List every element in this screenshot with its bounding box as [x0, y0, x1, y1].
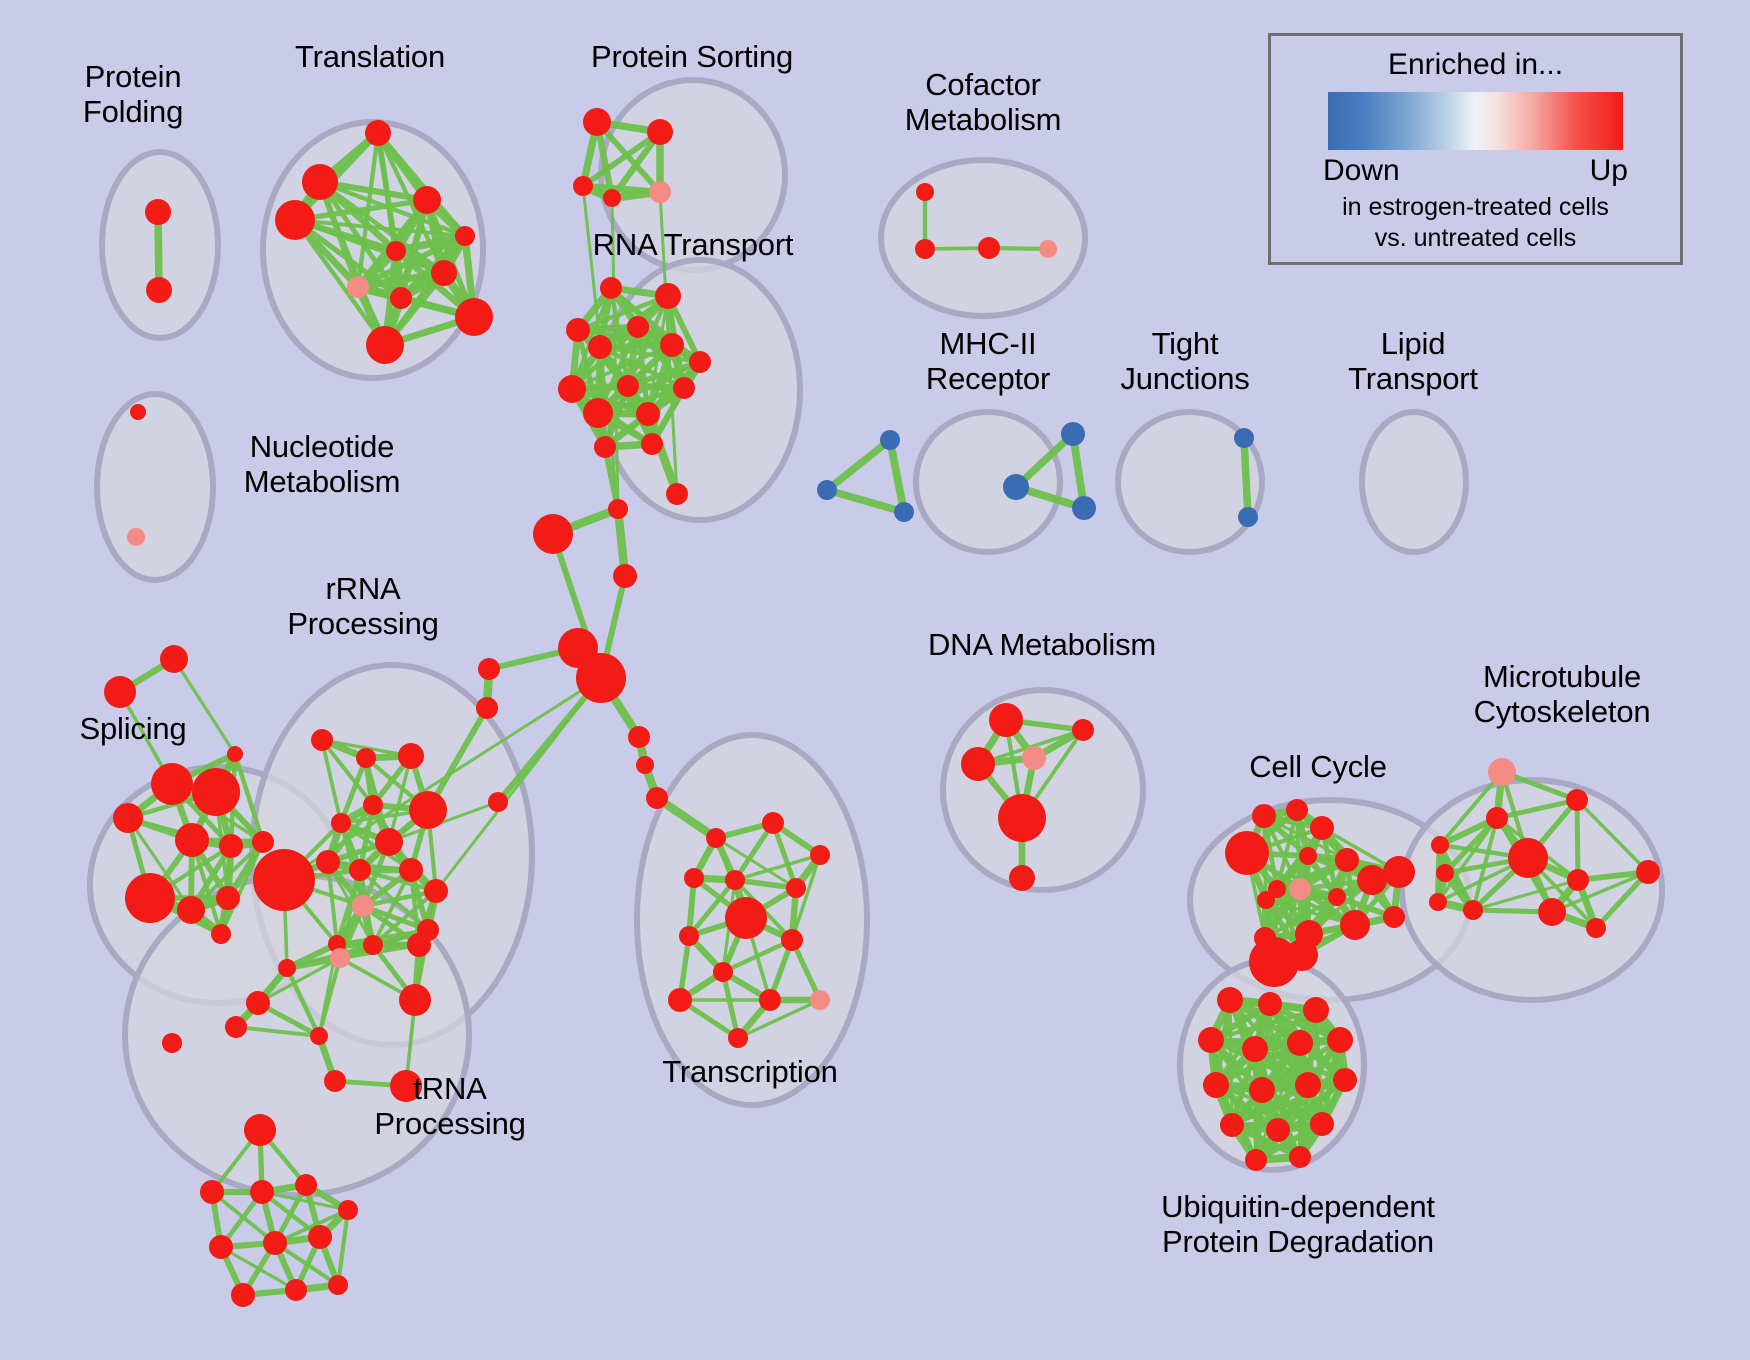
network-node[interactable]: [478, 658, 500, 680]
legend-subtitle-line-1: in estrogen-treated cells: [1271, 192, 1680, 223]
network-node[interactable]: [689, 351, 711, 373]
network-node[interactable]: [130, 404, 146, 420]
cluster-label-ubiquitin-protein-degradation: Ubiquitin-dependent Protein Degradation: [1161, 1190, 1435, 1259]
network-node[interactable]: [1245, 1149, 1267, 1171]
network-node[interactable]: [1310, 1112, 1334, 1136]
network-node[interactable]: [627, 316, 649, 338]
cluster-label-microtubule-cytoskeleton: Microtubule Cytoskeleton: [1474, 660, 1651, 729]
network-node[interactable]: [250, 1180, 274, 1204]
network-node[interactable]: [209, 1235, 233, 1259]
network-node[interactable]: [1203, 1072, 1229, 1098]
network-node[interactable]: [375, 828, 403, 856]
network-node[interactable]: [603, 189, 621, 207]
network-node[interactable]: [1258, 992, 1282, 1016]
legend-endpoints: Down Up: [1323, 154, 1628, 192]
network-node[interactable]: [647, 119, 673, 145]
network-node[interactable]: [127, 528, 145, 546]
network-node[interactable]: [363, 935, 383, 955]
network-node[interactable]: [398, 743, 424, 769]
network-node[interactable]: [810, 990, 830, 1010]
network-node[interactable]: [252, 831, 274, 853]
cluster-label-rrna-processing: rRNA Processing: [287, 572, 438, 641]
cluster-label-splicing: Splicing: [80, 712, 187, 747]
network-node[interactable]: [216, 886, 240, 910]
network-edge: [827, 440, 890, 490]
network-node[interactable]: [880, 430, 900, 450]
network-node[interactable]: [810, 845, 830, 865]
legend-subtitle-line-2: vs. untreated cells: [1271, 223, 1680, 254]
network-node[interactable]: [1009, 865, 1035, 891]
network-node[interactable]: [407, 933, 431, 957]
network-node[interactable]: [455, 226, 475, 246]
network-node[interactable]: [608, 499, 628, 519]
network-node[interactable]: [175, 823, 209, 857]
network-node[interactable]: [1238, 507, 1258, 527]
network-node[interactable]: [684, 868, 704, 888]
network-node[interactable]: [728, 1028, 748, 1048]
network-edge: [1244, 438, 1248, 517]
network-node[interactable]: [1217, 987, 1243, 1013]
network-node[interactable]: [278, 959, 296, 977]
network-node[interactable]: [725, 870, 745, 890]
network-node[interactable]: [125, 873, 175, 923]
network-node[interactable]: [817, 480, 837, 500]
network-node[interactable]: [1289, 878, 1311, 900]
network-node[interactable]: [1508, 838, 1548, 878]
cluster-label-cell-cycle: Cell Cycle: [1249, 750, 1387, 785]
network-node[interactable]: [145, 199, 171, 225]
network-node[interactable]: [1357, 865, 1387, 895]
network-node[interactable]: [347, 276, 369, 298]
network-node[interactable]: [311, 729, 333, 751]
network-node[interactable]: [713, 962, 733, 982]
network-node[interactable]: [200, 1180, 224, 1204]
network-node[interactable]: [628, 726, 650, 748]
network-node[interactable]: [600, 277, 622, 299]
network-node[interactable]: [1242, 1036, 1268, 1062]
network-node[interactable]: [302, 164, 338, 200]
network-node[interactable]: [1538, 898, 1566, 926]
network-node[interactable]: [725, 897, 767, 939]
network-node[interactable]: [328, 1275, 348, 1295]
legend-title: Enriched in...: [1271, 48, 1680, 82]
cluster-label-tight-junctions: Tight Junctions: [1120, 327, 1249, 396]
cluster-ellipse-nucleotide-metabolism: [97, 394, 213, 580]
network-node[interactable]: [476, 697, 498, 719]
network-node[interactable]: [285, 1279, 307, 1301]
network-node[interactable]: [649, 181, 671, 203]
network-node[interactable]: [244, 1114, 276, 1146]
cluster-label-rna-transport: RNA Transport: [593, 228, 794, 263]
cluster-label-translation: Translation: [295, 40, 445, 75]
network-node[interactable]: [989, 703, 1023, 737]
network-node[interactable]: [160, 645, 188, 673]
network-node[interactable]: [246, 991, 270, 1015]
network-node[interactable]: [1567, 869, 1589, 891]
network-node[interactable]: [1268, 880, 1286, 898]
network-node[interactable]: [706, 828, 726, 848]
network-node[interactable]: [146, 277, 172, 303]
network-node[interactable]: [349, 859, 371, 881]
network-node[interactable]: [330, 948, 350, 968]
network-node[interactable]: [162, 1033, 182, 1053]
cluster-label-cofactor-metabolism: Cofactor Metabolism: [905, 68, 1062, 137]
network-node[interactable]: [192, 768, 240, 816]
network-node[interactable]: [324, 1070, 346, 1092]
network-node[interactable]: [673, 377, 695, 399]
color-scale-bar: [1328, 92, 1623, 150]
network-node[interactable]: [1289, 1146, 1311, 1168]
network-node[interactable]: [1431, 836, 1449, 854]
legend-up-label: Up: [1590, 154, 1628, 188]
network-node[interactable]: [558, 375, 586, 403]
network-node[interactable]: [1295, 1072, 1321, 1098]
network-node[interactable]: [668, 988, 692, 1012]
network-node[interactable]: [1286, 939, 1318, 971]
network-node[interactable]: [1299, 847, 1317, 865]
network-node[interactable]: [961, 747, 995, 781]
network-node[interactable]: [1249, 1077, 1275, 1103]
network-node[interactable]: [1340, 910, 1370, 940]
network-node[interactable]: [352, 895, 374, 917]
network-node[interactable]: [390, 287, 412, 309]
network-node[interactable]: [762, 812, 784, 834]
network-node[interactable]: [781, 929, 803, 951]
network-node[interactable]: [588, 335, 612, 359]
network-node[interactable]: [1436, 864, 1454, 882]
network-node[interactable]: [295, 1174, 317, 1196]
network-node[interactable]: [177, 896, 205, 924]
network-node[interactable]: [641, 433, 663, 455]
network-node[interactable]: [655, 283, 681, 309]
network-node[interactable]: [1287, 1030, 1313, 1056]
cluster-ellipse-mhc-ii-receptor: [916, 412, 1060, 552]
network-node[interactable]: [636, 402, 660, 426]
network-node[interactable]: [1234, 428, 1254, 448]
network-node[interactable]: [1566, 789, 1588, 811]
network-node[interactable]: [1266, 1118, 1290, 1142]
network-node[interactable]: [1488, 758, 1516, 786]
network-node[interactable]: [594, 436, 616, 458]
network-node[interactable]: [1198, 1027, 1224, 1053]
network-node[interactable]: [1328, 888, 1346, 906]
network-node[interactable]: [1335, 848, 1359, 872]
network-node[interactable]: [424, 879, 448, 903]
cluster-ellipse-lipid-transport: [1362, 412, 1466, 552]
network-node[interactable]: [338, 1200, 358, 1220]
network-node[interactable]: [759, 989, 781, 1011]
network-node[interactable]: [1072, 719, 1094, 741]
network-node[interactable]: [1327, 1027, 1353, 1053]
network-node[interactable]: [1039, 240, 1057, 258]
network-node[interactable]: [573, 176, 593, 196]
network-node[interactable]: [894, 502, 914, 522]
network-node[interactable]: [455, 298, 493, 336]
network-edge: [827, 490, 904, 512]
network-node[interactable]: [583, 108, 611, 136]
network-node[interactable]: [366, 326, 404, 364]
network-node[interactable]: [316, 850, 340, 874]
network-node[interactable]: [1225, 831, 1269, 875]
network-node[interactable]: [409, 791, 447, 829]
network-node[interactable]: [253, 849, 315, 911]
cluster-label-protein-sorting: Protein Sorting: [591, 40, 793, 75]
network-node[interactable]: [331, 813, 351, 833]
network-node[interactable]: [998, 794, 1046, 842]
network-node[interactable]: [225, 1016, 247, 1038]
network-node[interactable]: [636, 756, 654, 774]
cluster-label-transcription: Transcription: [662, 1055, 837, 1090]
network-edge: [1577, 800, 1578, 880]
network-node[interactable]: [151, 763, 193, 805]
network-node[interactable]: [1636, 860, 1660, 884]
network-node[interactable]: [1061, 422, 1085, 446]
network-node[interactable]: [365, 120, 391, 146]
network-node[interactable]: [275, 200, 315, 240]
cluster-label-lipid-transport: Lipid Transport: [1348, 327, 1478, 396]
network-node[interactable]: [1586, 918, 1606, 938]
network-node[interactable]: [646, 787, 668, 809]
network-node[interactable]: [399, 858, 423, 882]
network-node[interactable]: [310, 1027, 328, 1045]
network-node[interactable]: [583, 398, 613, 428]
network-node[interactable]: [1252, 804, 1276, 828]
network-node[interactable]: [113, 803, 143, 833]
legend-box: Enriched in... Down Up in estrogen-treat…: [1268, 33, 1683, 265]
network-node[interactable]: [978, 237, 1000, 259]
network-node[interactable]: [566, 318, 590, 342]
network-node[interactable]: [1333, 1068, 1357, 1092]
network-node[interactable]: [1383, 856, 1415, 888]
network-node[interactable]: [613, 564, 637, 588]
cluster-label-trna-processing: tRNA Processing: [374, 1072, 525, 1141]
network-node[interactable]: [363, 795, 383, 815]
cluster-label-nucleotide-metabolism: Nucleotide Metabolism: [244, 430, 401, 499]
network-node[interactable]: [231, 1283, 255, 1307]
network-node[interactable]: [211, 924, 231, 944]
network-node[interactable]: [1072, 496, 1096, 520]
network-node[interactable]: [617, 375, 639, 397]
network-node[interactable]: [576, 653, 626, 703]
network-node[interactable]: [1429, 893, 1447, 911]
network-node[interactable]: [1022, 746, 1046, 770]
network-node[interactable]: [308, 1225, 332, 1249]
network-node[interactable]: [227, 746, 243, 762]
network-node[interactable]: [1220, 1113, 1244, 1137]
network-node[interactable]: [1003, 474, 1029, 500]
network-node[interactable]: [666, 483, 688, 505]
network-node[interactable]: [488, 792, 508, 812]
cluster-label-dna-metabolism: DNA Metabolism: [928, 628, 1156, 663]
network-node[interactable]: [660, 333, 684, 357]
network-node[interactable]: [386, 241, 406, 261]
network-node[interactable]: [1310, 816, 1334, 840]
cluster-label-protein-folding: Protein Folding: [83, 60, 183, 129]
network-node[interactable]: [916, 183, 934, 201]
network-node[interactable]: [533, 514, 573, 554]
network-node[interactable]: [263, 1231, 287, 1255]
network-node[interactable]: [786, 878, 806, 898]
cluster-label-mhc-ii-receptor: MHC-II Receptor: [926, 327, 1050, 396]
network-node[interactable]: [915, 239, 935, 259]
network-node[interactable]: [1486, 807, 1508, 829]
legend-down-label: Down: [1323, 154, 1400, 188]
network-node[interactable]: [356, 748, 376, 768]
network-node[interactable]: [413, 186, 441, 214]
network-node[interactable]: [1286, 799, 1308, 821]
network-node[interactable]: [431, 260, 457, 286]
network-node[interactable]: [1463, 900, 1483, 920]
cluster-ellipse-cofactor-metabolism: [881, 160, 1085, 316]
network-node[interactable]: [104, 676, 136, 708]
network-edge: [890, 440, 904, 512]
network-node[interactable]: [1383, 906, 1405, 928]
network-node[interactable]: [1303, 997, 1329, 1023]
network-node[interactable]: [679, 926, 699, 946]
network-node[interactable]: [219, 834, 243, 858]
network-node[interactable]: [399, 984, 431, 1016]
